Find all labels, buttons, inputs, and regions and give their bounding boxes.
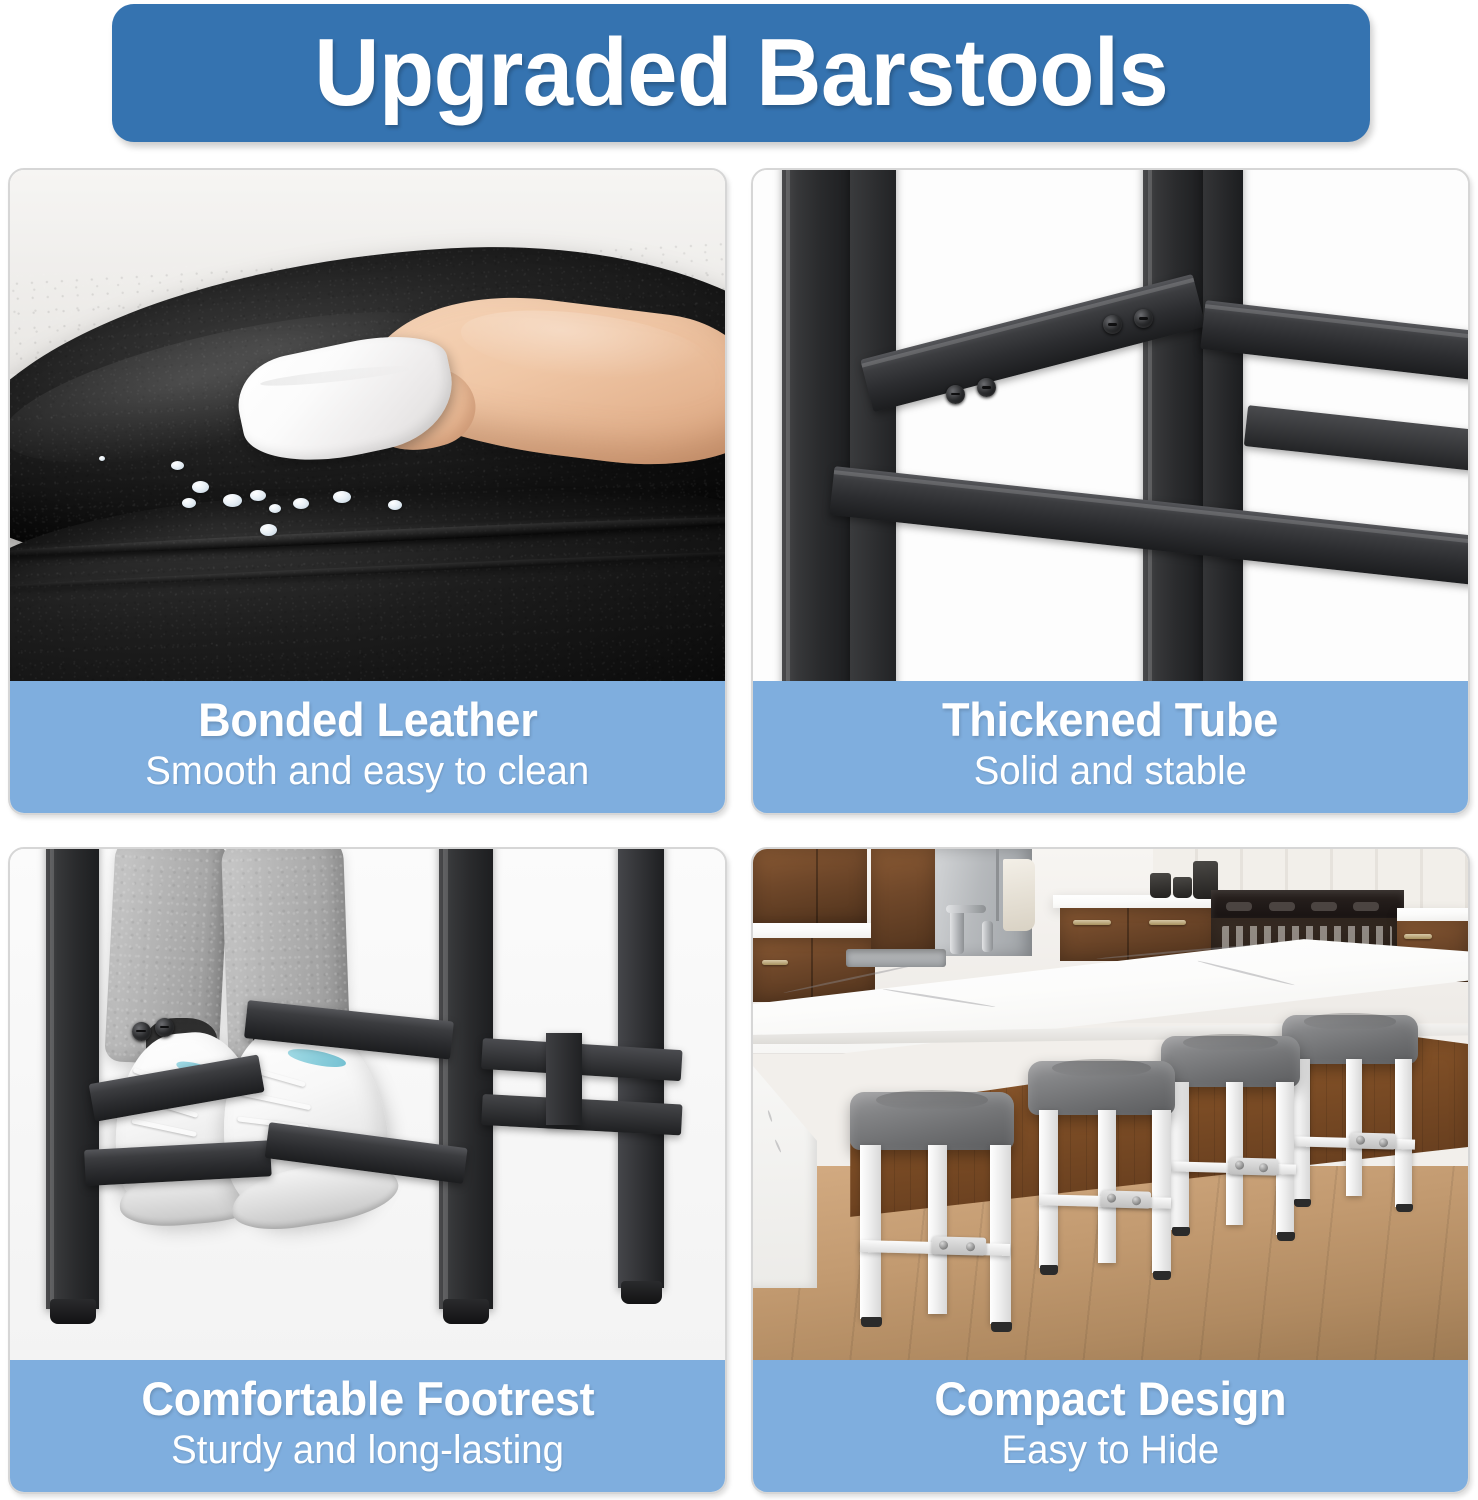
caption-bar-bonded-leather: Bonded Leather Smooth and easy to clean <box>10 681 725 813</box>
stool-floor-glide <box>1040 1265 1059 1274</box>
photo-compact-design <box>753 849 1468 1360</box>
frame-bolt <box>132 1022 151 1041</box>
feature-panel-thickened-tube: Thickened Tube Solid and stable <box>751 168 1470 815</box>
feature-panel-bonded-leather: Bonded Leather Smooth and easy to clean <box>8 168 727 815</box>
hanging-utensil <box>996 849 999 921</box>
stool-bracket-plate <box>932 1237 987 1257</box>
counter-right <box>1397 908 1469 921</box>
water-droplet <box>388 500 402 510</box>
barstool <box>1161 1036 1300 1087</box>
stool-bracket-plate <box>1101 1191 1151 1210</box>
frame-bolt <box>155 1018 174 1037</box>
caption-subtitle: Smooth and easy to clean <box>145 749 589 793</box>
faucet-spout <box>946 905 986 913</box>
vertical-tube-left <box>782 170 850 681</box>
range-cooktop <box>1211 890 1404 918</box>
cabinet-seam <box>1127 905 1129 961</box>
stool-seat <box>1282 1015 1418 1064</box>
stool-leg <box>1346 1059 1362 1197</box>
stool-leg <box>990 1145 1011 1324</box>
stool-bolt <box>1259 1163 1268 1172</box>
vertical-tube-right <box>1143 170 1204 681</box>
cabinet-handle <box>1149 920 1187 925</box>
tube-edge-highlight <box>443 849 447 1309</box>
floor-glide <box>621 1281 662 1305</box>
stool-saddle-dip <box>1052 1059 1152 1077</box>
stool-saddle-dip <box>876 1090 988 1110</box>
barstool <box>1028 1061 1175 1115</box>
feature-panel-comfortable-footrest: Comfortable Footrest Sturdy and long-las… <box>8 847 727 1494</box>
stool-seat <box>1028 1061 1175 1115</box>
horizontal-rail-far-right <box>1244 405 1468 473</box>
caption-bar-comfortable-footrest: Comfortable Footrest Sturdy and long-las… <box>10 1360 725 1492</box>
product-infographic: Upgraded Barstools <box>0 0 1478 1500</box>
caption-title: Comfortable Footrest <box>141 1374 594 1425</box>
stool-leg <box>1039 1110 1058 1268</box>
caption-bar-compact-design: Compact Design Easy to Hide <box>753 1360 1468 1492</box>
kitchen-canister <box>1173 877 1192 898</box>
tube-edge-highlight <box>50 849 54 1309</box>
stool-floor-glide <box>1172 1227 1190 1236</box>
water-droplet <box>293 498 309 509</box>
wall-cabinet-left <box>753 849 867 926</box>
vertical-tube-inner-left <box>850 170 896 681</box>
tube-edge-highlight <box>1148 170 1152 681</box>
water-droplet <box>269 504 281 513</box>
caption-subtitle: Easy to Hide <box>1002 1428 1220 1472</box>
stool-floor-glide <box>1294 1199 1311 1207</box>
floor-glide <box>443 1299 489 1325</box>
stool-floor-glide <box>991 1322 1012 1332</box>
kitchen-scene <box>753 849 1468 1360</box>
stool-bolt <box>1132 1196 1141 1205</box>
island-sink <box>846 949 946 967</box>
cabinet-seam <box>816 849 818 926</box>
counter-left <box>753 923 878 938</box>
stool-leg-front-right <box>439 849 493 1309</box>
stool-bolt <box>938 1240 947 1249</box>
stool-floor-glide <box>861 1317 882 1327</box>
cabinet-seam <box>811 936 813 1002</box>
stool-bracket-plate <box>1350 1132 1397 1150</box>
water-droplet <box>260 524 277 536</box>
hanging-towel <box>1003 859 1035 931</box>
frame-bolt <box>977 378 996 397</box>
soap-dispenser <box>982 921 993 953</box>
water-droplet <box>192 481 209 493</box>
photo-bonded-leather <box>10 170 725 681</box>
frame-bolt <box>1134 309 1153 328</box>
stool-bolt <box>1379 1137 1388 1146</box>
photo-thickened-tube <box>753 170 1468 681</box>
page-title: Upgraded Barstools <box>314 25 1168 121</box>
barstool <box>850 1092 1014 1151</box>
stool-bracket-plate <box>1229 1158 1278 1176</box>
water-droplet <box>182 498 196 508</box>
caption-bar-thickened-tube: Thickened Tube Solid and stable <box>753 681 1468 813</box>
cabinet-handle <box>1073 920 1111 925</box>
water-droplet <box>250 490 266 501</box>
cabinet-handle <box>762 960 789 965</box>
range-burner <box>1311 902 1337 911</box>
stool-leg <box>1152 1110 1171 1274</box>
feature-panel-compact-design: Compact Design Easy to Hide <box>751 847 1470 1494</box>
fridge-surround-panel <box>871 849 935 961</box>
leather-scene <box>10 170 725 681</box>
stool-floor-glide <box>1396 1204 1413 1212</box>
cabinet-handle <box>1404 934 1433 939</box>
water-droplet <box>99 456 105 461</box>
range-burner <box>1353 902 1379 911</box>
caption-title: Thickened Tube <box>942 695 1278 746</box>
stool-bolt <box>965 1243 974 1252</box>
stool-bolt <box>1107 1194 1116 1203</box>
tube-edge-highlight <box>786 170 791 681</box>
stool-bolt <box>1235 1161 1244 1170</box>
rear-vertical-divider <box>546 1033 582 1125</box>
stool-leg <box>1098 1110 1115 1263</box>
rail-edge-highlight <box>1205 304 1468 341</box>
stool-saddle-dip <box>1183 1034 1278 1051</box>
stool-seat <box>850 1092 1014 1151</box>
sneaker-accent-stripe <box>286 1045 347 1070</box>
caption-title: Compact Design <box>935 1374 1287 1425</box>
stool-leg <box>1276 1082 1294 1235</box>
stool-floor-glide <box>1153 1271 1172 1280</box>
stool-saddle-dip <box>1304 1013 1396 1030</box>
stool-leg <box>1226 1082 1242 1225</box>
range-burner <box>1269 902 1295 911</box>
island-faucet <box>950 908 964 954</box>
stool-leg-front-left <box>46 849 100 1309</box>
tissue-fold <box>259 362 414 389</box>
tube-frame-scene <box>753 170 1468 681</box>
water-droplet <box>223 494 242 507</box>
feature-panel-grid: Bonded Leather Smooth and easy to clean <box>8 168 1470 1494</box>
stool-floor-glide <box>1277 1232 1295 1241</box>
kitchen-canister <box>1150 873 1171 899</box>
stool-bolt <box>1355 1135 1364 1144</box>
header-banner: Upgraded Barstools <box>112 4 1370 142</box>
stool-leg <box>928 1145 947 1314</box>
barstool <box>1282 1015 1418 1064</box>
caption-subtitle: Solid and stable <box>974 749 1247 793</box>
frame-bolt <box>946 385 965 404</box>
photo-comfortable-footrest <box>10 849 725 1360</box>
footrest-scene <box>10 849 725 1360</box>
stool-leg <box>1395 1059 1412 1207</box>
stool-leg <box>860 1145 881 1319</box>
caption-subtitle: Sturdy and long-lasting <box>171 1428 564 1472</box>
vertical-tube-inner-right <box>1203 170 1242 681</box>
range-burner <box>1226 902 1252 911</box>
caption-title: Bonded Leather <box>198 695 537 746</box>
stool-seat <box>1161 1036 1300 1087</box>
floor-glide <box>50 1299 96 1325</box>
shoe-lace <box>131 1118 197 1137</box>
